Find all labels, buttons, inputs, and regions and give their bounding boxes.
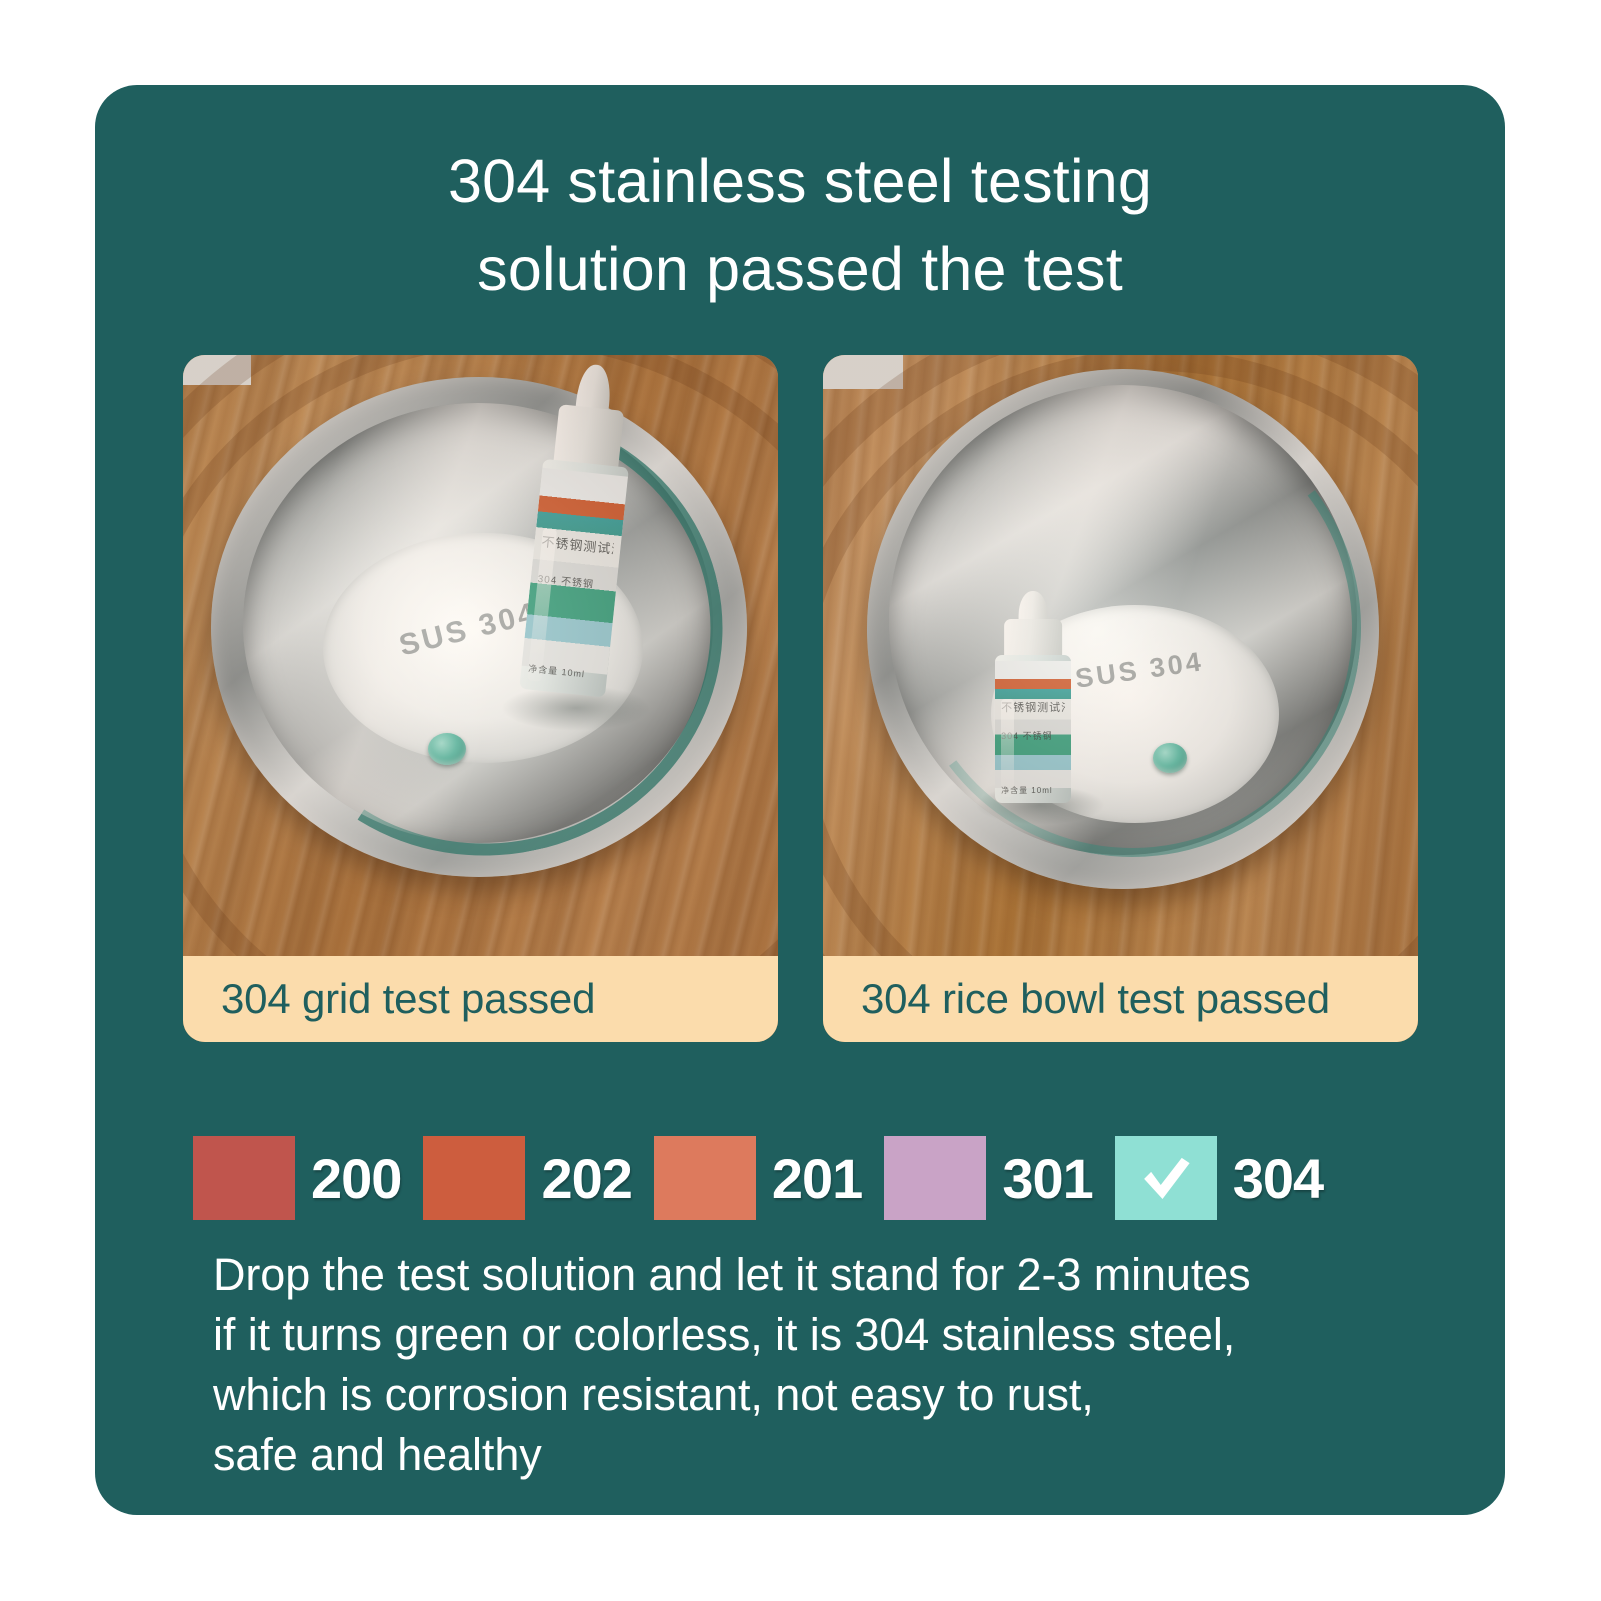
swatch-item-301: 301 <box>884 1136 1092 1220</box>
test-solution-droplet <box>1153 743 1187 773</box>
swatch-label-304: 304 <box>1233 1146 1323 1211</box>
infographic-card: 304 stainless steel testing solution pas… <box>95 85 1505 1515</box>
photo-card-grid-test: SUS 304 不锈钢测试液 304 不锈钢 净含量 10ml <box>183 355 778 1042</box>
description-line-1: Drop the test solution and let it stand … <box>213 1245 1413 1305</box>
bottle-body: 不锈钢测试液 304 不锈钢 净含量 10ml <box>995 655 1071 803</box>
swatch-item-202: 202 <box>423 1136 631 1220</box>
description-line-2: if it turns green or colorless, it is 30… <box>213 1305 1413 1365</box>
steel-grade-swatch-legend: 200 202 201 301 304 <box>193 1130 1428 1226</box>
color-swatch-304 <box>1115 1136 1217 1220</box>
swatch-label-200: 200 <box>311 1146 401 1211</box>
bottle-cap <box>1004 619 1062 659</box>
description-line-4: safe and healthy <box>213 1425 1413 1485</box>
test-solution-bottle: 不锈钢测试液 304 不锈钢 净含量 10ml <box>995 591 1071 803</box>
caption-bar-rice-bowl-test: 304 rice bowl test passed <box>823 956 1418 1042</box>
photo-row: SUS 304 不锈钢测试液 304 不锈钢 净含量 10ml <box>183 355 1418 1042</box>
caption-label: 304 grid test passed <box>183 975 595 1023</box>
description-line-3: which is corrosion resistant, not easy t… <box>213 1365 1413 1425</box>
page-title: 304 stainless steel testing solution pas… <box>95 137 1505 313</box>
checkmark-icon <box>1138 1150 1194 1206</box>
description-text: Drop the test solution and let it stand … <box>213 1245 1413 1485</box>
color-swatch-301 <box>884 1136 986 1220</box>
color-swatch-202 <box>423 1136 525 1220</box>
rice-bowl-test-scene: SUS 304 不锈钢测试液 304 不锈钢 净含量 10ml <box>823 355 1418 1042</box>
grid-test-scene: SUS 304 不锈钢测试液 304 不锈钢 净含量 10ml <box>183 355 778 1042</box>
swatch-item-304: 304 <box>1115 1136 1323 1220</box>
color-swatch-200 <box>193 1136 295 1220</box>
swatch-item-200: 200 <box>193 1136 401 1220</box>
swatch-item-201: 201 <box>654 1136 862 1220</box>
swatch-label-201: 201 <box>772 1146 862 1211</box>
photo-card-rice-bowl-test: SUS 304 不锈钢测试液 304 不锈钢 净含量 10ml <box>823 355 1418 1042</box>
title-line-1: 304 stainless steel testing <box>95 137 1505 225</box>
caption-label: 304 rice bowl test passed <box>823 975 1330 1023</box>
bottle-gloss <box>1001 699 1014 797</box>
test-solution-droplet <box>428 733 466 765</box>
color-swatch-201 <box>654 1136 756 1220</box>
caption-bar-grid-test: 304 grid test passed <box>183 956 778 1042</box>
title-line-2: solution passed the test <box>95 225 1505 313</box>
swatch-label-202: 202 <box>541 1146 631 1211</box>
swatch-label-301: 301 <box>1002 1146 1092 1211</box>
